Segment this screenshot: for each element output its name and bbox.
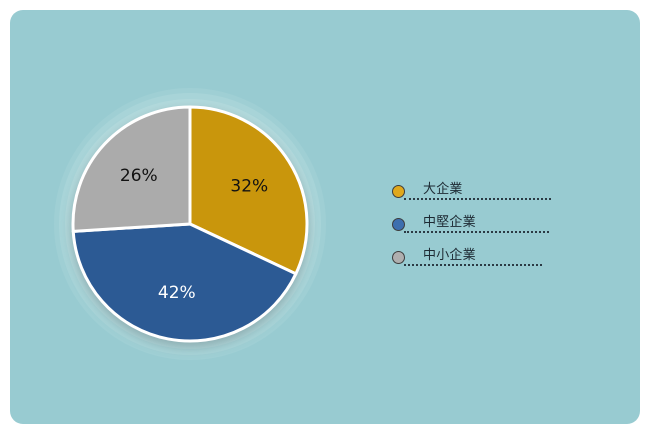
pie-slice-value-label: 32% — [230, 176, 268, 196]
chart-legend: 大企業 中堅企業 中小企業 — [390, 178, 560, 277]
legend-marker-mid-enterprise — [392, 218, 405, 231]
legend-rule-mid-enterprise — [404, 231, 549, 233]
pie-slice-value-label: 42% — [158, 283, 196, 303]
legend-rule-small-enterprise — [404, 264, 542, 266]
pie-slice-value-label: 26% — [120, 166, 158, 186]
legend-marker-large-enterprise — [392, 185, 405, 198]
legend-marker-small-enterprise — [392, 251, 405, 264]
legend-item-mid-enterprise[interactable]: 中堅企業 — [390, 211, 560, 244]
legend-label-large-enterprise: 大企業 — [423, 178, 463, 197]
pie-chart: 32%42%26% — [54, 88, 326, 360]
legend-label-mid-enterprise: 中堅企業 — [423, 211, 476, 230]
chart-page: 32%42%26% 大企業 中堅企業 中小企業 — [0, 0, 650, 434]
legend-item-large-enterprise[interactable]: 大企業 — [390, 178, 560, 211]
legend-label-small-enterprise: 中小企業 — [423, 244, 476, 263]
pie-svg: 32%42%26% — [70, 104, 310, 344]
legend-item-small-enterprise[interactable]: 中小企業 — [390, 244, 560, 277]
legend-rule-large-enterprise — [404, 198, 551, 200]
pie-slices — [73, 107, 307, 341]
